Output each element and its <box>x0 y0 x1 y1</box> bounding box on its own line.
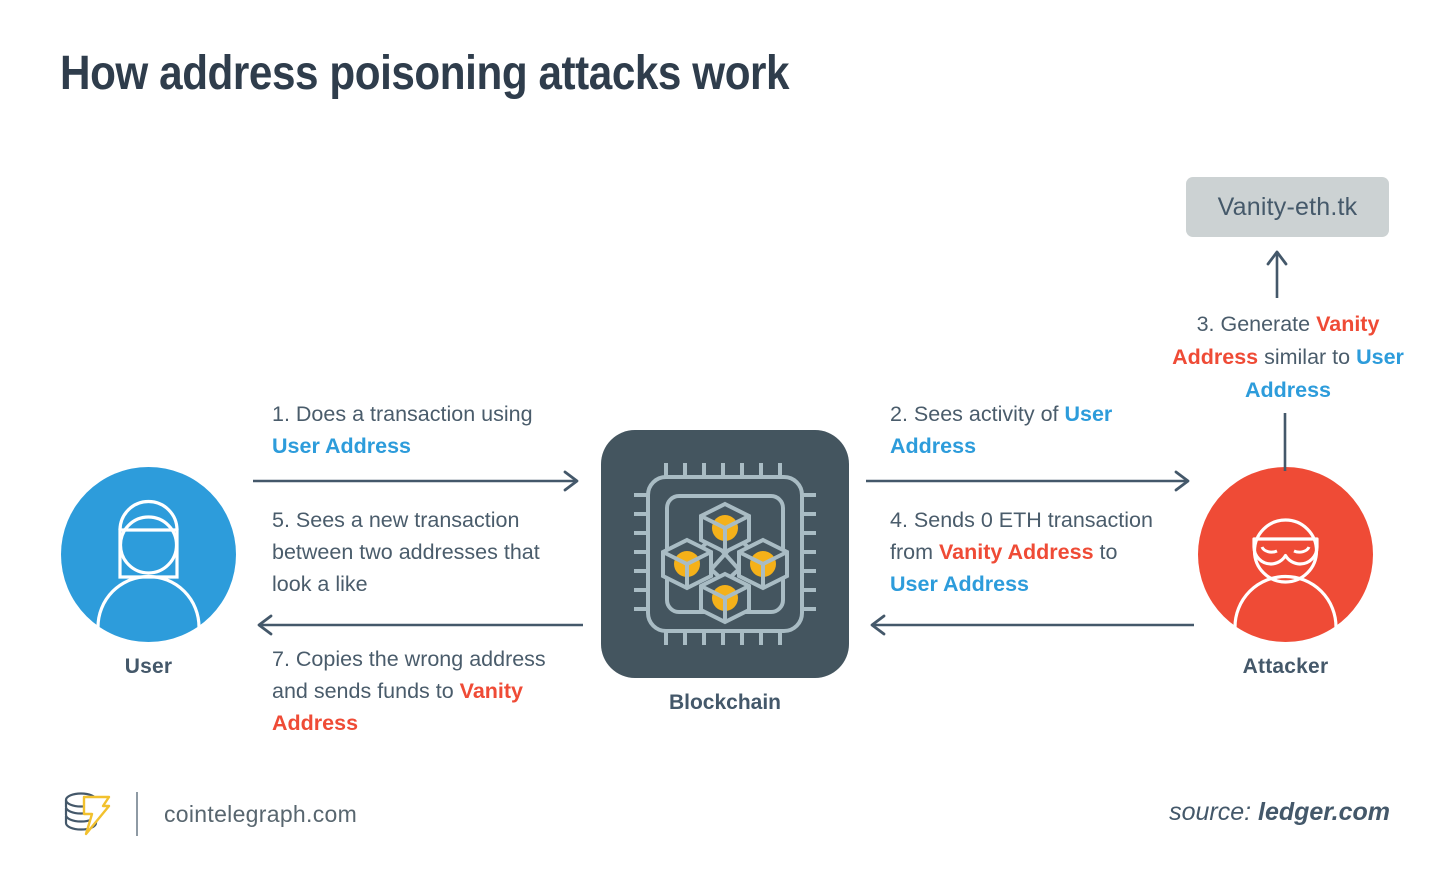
step-1-part-plain: 1. Does a transaction using <box>272 402 533 426</box>
attacker-label: Attacker <box>1198 655 1373 679</box>
step-4-text: 4. Sends 0 ETH transaction from Vanity A… <box>890 504 1170 600</box>
step-2-part-plain: 2. Sees activity of <box>890 402 1064 426</box>
vanity-tool-box[interactable]: Vanity-eth.tk <box>1186 177 1389 237</box>
node-attacker: Attacker <box>1198 467 1373 679</box>
brand-name: cointelegraph.com <box>164 801 357 828</box>
step-4-part-vanity-address: Vanity Address <box>939 540 1094 564</box>
step-4-part-user-address: User Address <box>890 572 1029 596</box>
blockchain-cube-group <box>663 504 787 622</box>
arrow-user-to-blockchain <box>253 470 583 492</box>
cointelegraph-coin-stack-icon <box>62 789 114 839</box>
blockchain-label: Blockchain <box>601 691 849 715</box>
blockchain-chip <box>601 430 849 678</box>
page-title: How address poisoning attacks work <box>60 46 789 101</box>
source-label: source: <box>1169 798 1251 826</box>
brand-block: cointelegraph.com <box>62 786 357 842</box>
blockchain-chip-icon <box>601 430 849 678</box>
node-user: User <box>61 467 236 679</box>
step-5-text: 5. Sees a new transaction between two ad… <box>272 504 578 600</box>
source-site: ledger.com <box>1258 798 1390 826</box>
step-3-part-similar-to: similar to <box>1258 345 1356 369</box>
step-3-text: 3. Generate Vanity Address similar to Us… <box>1170 308 1406 407</box>
arrow-blockchain-to-attacker <box>866 470 1194 492</box>
vanity-tool-label: Vanity-eth.tk <box>1218 193 1358 222</box>
step-1-part-user-address: User Address <box>272 434 411 458</box>
step-1-text: 1. Does a transaction using User Address <box>272 398 572 462</box>
step-3-part-plain: 3. Generate <box>1197 312 1317 336</box>
infographic-canvas: How address poisoning attacks work User <box>0 0 1450 896</box>
user-label: User <box>61 655 236 679</box>
arrow-attacker-to-blockchain <box>866 614 1194 636</box>
source-attribution: source: ledger.com <box>1169 798 1390 827</box>
user-avatar <box>61 467 236 642</box>
attacker-masked-avatar-icon <box>1198 467 1373 642</box>
connector-attacker-to-step-3 <box>1282 413 1288 471</box>
step-5-part-plain: 5. Sees a new transaction between two ad… <box>272 508 540 596</box>
step-2-text: 2. Sees activity of User Address <box>890 398 1170 462</box>
node-blockchain: Blockchain <box>601 430 849 715</box>
step-4-part-to: to <box>1094 540 1118 564</box>
arrow-blockchain-to-user <box>253 614 583 636</box>
footer: cointelegraph.com source: ledger.com <box>0 786 1450 856</box>
step-7-text: 7. Copies the wrong address and sends fu… <box>272 643 572 739</box>
arrow-up-to-vanity-tool <box>1262 250 1292 298</box>
attacker-avatar <box>1198 467 1373 642</box>
user-avatar-icon <box>61 467 236 642</box>
brand-divider <box>136 792 138 836</box>
